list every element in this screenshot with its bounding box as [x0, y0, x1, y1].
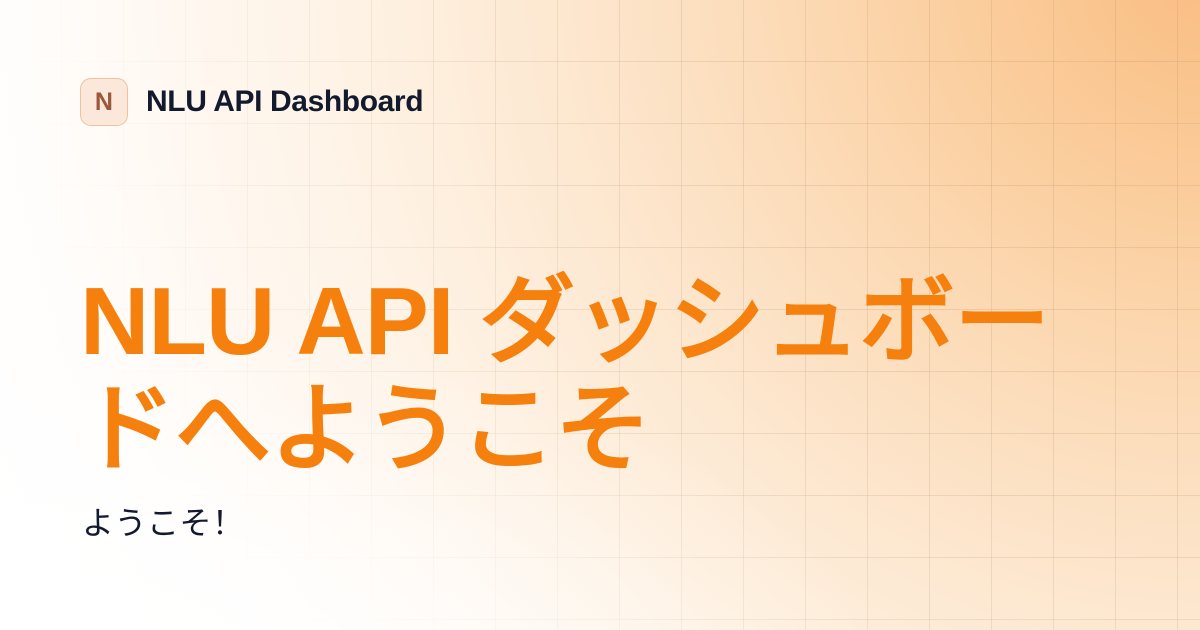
- hero-subtitle: ようこそ！: [82, 503, 245, 545]
- og-card: N NLU API Dashboard NLU API ダッシュボードへようこそ…: [0, 0, 1200, 630]
- hero-headline: NLU API ダッシュボードへようこそ: [80, 268, 1140, 483]
- card-content: N NLU API Dashboard NLU API ダッシュボードへようこそ…: [0, 0, 1200, 630]
- brand-title: NLU API Dashboard: [146, 87, 423, 117]
- nlu-logo-badge-icon: N: [80, 78, 128, 126]
- brand-lockup: N NLU API Dashboard: [80, 78, 423, 126]
- brand-badge-letter: N: [95, 90, 113, 115]
